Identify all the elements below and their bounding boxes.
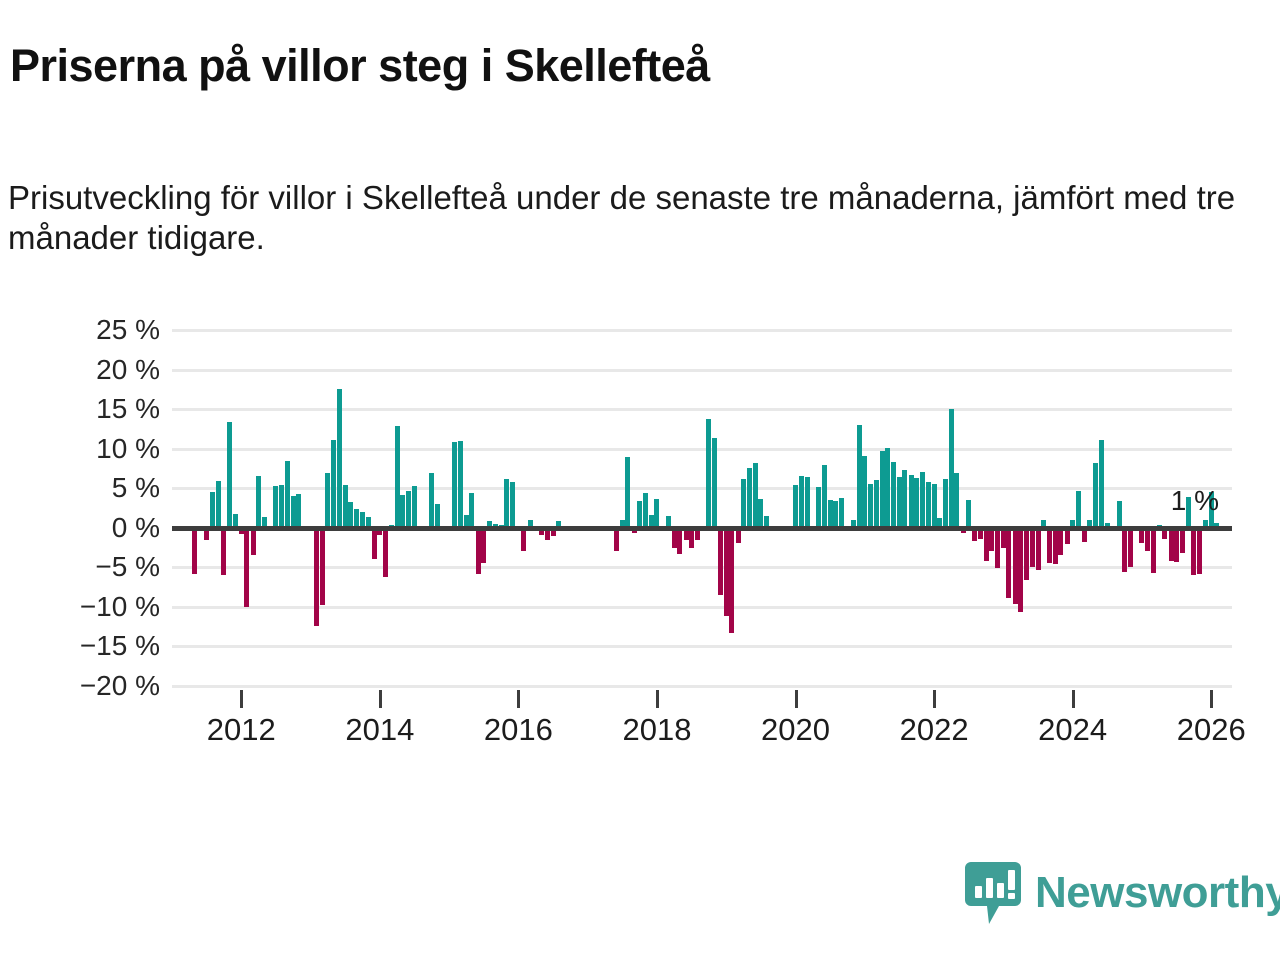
bar: [510, 482, 515, 528]
bar: [833, 501, 838, 528]
bar: [793, 485, 798, 528]
x-axis-tick-label: 2014: [345, 712, 414, 748]
bar: [902, 470, 907, 528]
bar: [1128, 528, 1133, 568]
bar: [469, 493, 474, 528]
bar: [412, 486, 417, 528]
bar: [747, 468, 752, 528]
x-axis-tick: [933, 690, 936, 708]
x-axis-tick-label: 2012: [207, 712, 276, 748]
bar: [926, 482, 931, 528]
bar: [637, 501, 642, 528]
y-axis-tick-label: 0 %: [0, 514, 160, 542]
bar: [868, 484, 873, 528]
y-axis-tick-label: 15 %: [0, 395, 160, 423]
bar: [984, 528, 989, 561]
bar: [729, 528, 734, 633]
bar: [614, 528, 619, 552]
bar: [724, 528, 729, 617]
plot-area: 1 %: [172, 330, 1232, 686]
bar: [435, 504, 440, 528]
bar: [1053, 528, 1058, 564]
bar: [914, 478, 919, 528]
bar: [1191, 528, 1196, 575]
bar: [400, 495, 405, 527]
bar: [989, 528, 994, 552]
bar: [839, 498, 844, 528]
y-axis-labels: 25 %20 %15 %10 %5 %0 %−5 %−10 %−15 %−20 …: [0, 330, 160, 690]
bar: [406, 491, 411, 527]
y-axis-tick-label: −10 %: [0, 593, 160, 621]
bar: [654, 499, 659, 527]
bar: [343, 485, 348, 528]
bar: [314, 528, 319, 626]
bar-chart-speech-bubble-icon: [965, 862, 1021, 924]
bar: [712, 438, 717, 527]
bar: [753, 463, 758, 528]
bar: [828, 500, 833, 528]
bar: [504, 479, 509, 528]
logo-wordmark: Newsworthy: [1035, 868, 1280, 918]
bar: [337, 389, 342, 528]
last-value-annotation: 1 %: [1171, 485, 1219, 517]
bar: [995, 528, 1000, 568]
y-axis-tick-label: −20 %: [0, 672, 160, 700]
bar: [909, 475, 914, 528]
bar: [677, 528, 682, 554]
bar: [706, 419, 711, 527]
bar: [943, 479, 948, 528]
bar: [880, 451, 885, 528]
bar: [885, 448, 890, 528]
chart-page: Priserna på villor steg i Skellefteå Pri…: [0, 0, 1280, 960]
x-axis-tick: [1210, 690, 1213, 708]
bar-series: [172, 330, 1232, 686]
bar: [1122, 528, 1127, 572]
bar: [1013, 528, 1018, 604]
x-axis-tick: [517, 690, 520, 708]
x-axis-tick-label: 2026: [1177, 712, 1246, 748]
bar: [643, 493, 648, 528]
bar: [1169, 528, 1174, 561]
bar: [1099, 440, 1104, 528]
bar: [429, 473, 434, 528]
bar: [966, 500, 971, 528]
bar: [932, 484, 937, 528]
y-axis-tick-label: −5 %: [0, 553, 160, 581]
x-axis-tick: [1072, 690, 1075, 708]
bar: [1197, 528, 1202, 575]
page-title: Priserna på villor steg i Skellefteå: [10, 40, 710, 92]
bar: [949, 409, 954, 528]
bar: [816, 487, 821, 528]
bar: [862, 456, 867, 528]
bar: [1006, 528, 1011, 598]
bar: [874, 480, 879, 528]
x-axis-tick: [240, 690, 243, 708]
bar: [822, 465, 827, 527]
bar: [741, 479, 746, 528]
bar: [799, 476, 804, 528]
x-axis-tick: [795, 690, 798, 708]
bar: [857, 425, 862, 528]
zero-axis-line: [172, 526, 1232, 531]
x-axis-tick: [379, 690, 382, 708]
bar: [758, 499, 763, 527]
bar: [805, 477, 810, 528]
x-axis: 20122014201620182020202220242026: [172, 686, 1232, 776]
bar: [227, 422, 232, 528]
bar: [256, 476, 261, 528]
y-axis-tick-label: 5 %: [0, 474, 160, 502]
bar: [221, 528, 226, 575]
bar: [897, 477, 902, 528]
bar: [192, 528, 197, 574]
bar: [372, 528, 377, 560]
bar: [1174, 528, 1179, 562]
bar: [331, 440, 336, 528]
x-axis-tick-label: 2018: [622, 712, 691, 748]
y-axis-tick-label: 25 %: [0, 316, 160, 344]
bar: [1058, 528, 1063, 556]
bar: [1180, 528, 1185, 553]
bar: [891, 462, 896, 528]
bar: [481, 528, 486, 564]
bar: [216, 481, 221, 528]
bar: [920, 472, 925, 528]
bar: [273, 486, 278, 528]
bar: [291, 496, 296, 528]
bar: [1093, 463, 1098, 528]
bar: [279, 485, 284, 528]
bar: [395, 426, 400, 528]
bar: [521, 528, 526, 551]
bar-chart: 25 %20 %15 %10 %5 %0 %−5 %−10 %−15 %−20 …: [0, 330, 1280, 750]
bar: [1076, 491, 1081, 528]
bar: [1151, 528, 1156, 573]
bar: [1036, 528, 1041, 570]
bar: [1030, 528, 1035, 567]
bar: [1117, 501, 1122, 528]
bar: [476, 528, 481, 575]
bar: [458, 441, 463, 528]
x-axis-tick: [656, 690, 659, 708]
bar: [1145, 528, 1150, 552]
x-axis-tick-label: 2020: [761, 712, 830, 748]
bar: [325, 473, 330, 528]
bar: [244, 528, 249, 607]
bar: [1018, 528, 1023, 612]
y-axis-tick-label: 20 %: [0, 356, 160, 384]
bar: [1024, 528, 1029, 580]
bar: [348, 502, 353, 528]
x-axis-tick-label: 2016: [484, 712, 553, 748]
x-axis-tick-label: 2022: [900, 712, 969, 748]
y-axis-tick-label: −15 %: [0, 632, 160, 660]
x-axis-tick-label: 2024: [1038, 712, 1107, 748]
bar: [718, 528, 723, 595]
bar: [452, 442, 457, 528]
bar: [285, 461, 290, 527]
y-axis-tick-label: 10 %: [0, 435, 160, 463]
bar: [210, 492, 215, 528]
bar: [625, 457, 630, 527]
bar: [296, 494, 301, 528]
bar: [251, 528, 256, 556]
bar: [383, 528, 388, 577]
bar: [954, 473, 959, 528]
newsworthy-logo[interactable]: Newsworthy: [965, 862, 1280, 924]
bar: [320, 528, 325, 605]
page-subtitle: Prisutveckling för villor i Skellefteå u…: [8, 178, 1238, 259]
bar: [1047, 528, 1052, 563]
bar: [672, 528, 677, 549]
